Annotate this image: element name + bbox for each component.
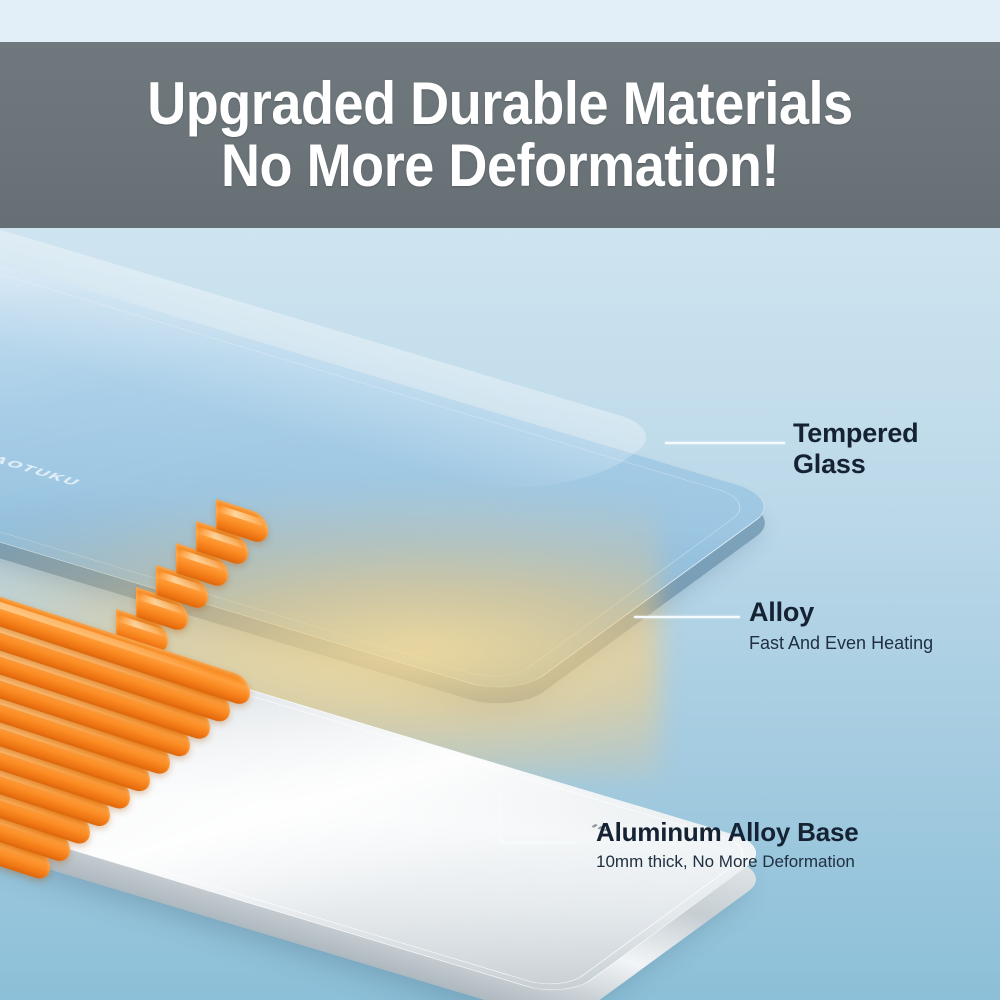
callout-tempered-glass: Tempered Glass	[793, 418, 918, 481]
exploded-product-illustration: AOTUKU Tempered Glass Alloy Fast	[0, 228, 1000, 1000]
leader-line-base-vertical	[500, 790, 502, 844]
headline-banner: Upgraded Durable Materials No More Defor…	[0, 42, 1000, 228]
callout-title-aluminum-alloy-base: Aluminum Alloy Base	[596, 817, 859, 847]
callout-alloy: Alloy Fast And Even Heating	[749, 597, 933, 656]
callout-subtitle-alloy: Fast And Even Heating	[749, 632, 933, 655]
leader-line-tempered-glass	[665, 442, 785, 444]
callout-aluminum-alloy-base: Aluminum Alloy Base 10mm thick, No More …	[596, 817, 859, 873]
infographic-canvas: Upgraded Durable Materials No More Defor…	[0, 0, 1000, 1000]
headline-line-1: Upgraded Durable Materials	[147, 73, 852, 135]
callout-subtitle-aluminum-alloy-base: 10mm thick, No More Deformation	[596, 851, 859, 873]
headline-line-2: No More Deformation!	[221, 135, 779, 197]
leader-line-base-horizontal	[500, 842, 576, 844]
callout-title-alloy: Alloy	[749, 597, 933, 628]
callout-title-tempered-glass: Tempered Glass	[793, 418, 918, 481]
leader-line-alloy	[634, 616, 740, 618]
top-strip	[0, 0, 1000, 42]
